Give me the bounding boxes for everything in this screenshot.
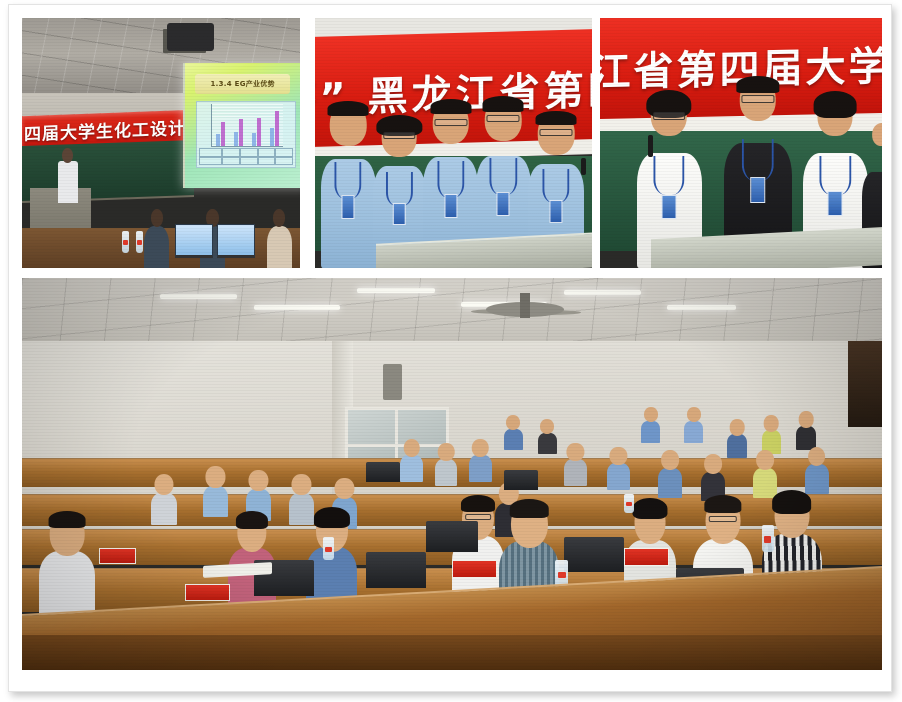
- laptop-icon: [175, 224, 213, 258]
- head: [154, 474, 173, 495]
- lanyard: [653, 156, 684, 195]
- attendee: [762, 415, 782, 454]
- photo-presentation[interactable]: 四届大学生化工设计 1.3.4 EG产业优势: [22, 18, 300, 268]
- water-bottle: [323, 537, 334, 561]
- attendee: [504, 415, 523, 450]
- hair: [704, 495, 741, 513]
- badge: [828, 191, 843, 216]
- torso: [469, 455, 491, 482]
- microphone-icon: [581, 158, 586, 175]
- torso: [641, 421, 660, 443]
- hair: [430, 99, 471, 114]
- attendee: [203, 466, 229, 517]
- torso: [805, 464, 829, 493]
- water-bottle: [122, 231, 129, 254]
- hair: [328, 101, 369, 116]
- attendee: [564, 443, 587, 486]
- door: [848, 341, 882, 427]
- hair: [772, 490, 812, 514]
- head: [206, 466, 225, 487]
- torso: [684, 421, 703, 443]
- water-bottle: [762, 525, 774, 552]
- glasses-icon: [539, 129, 572, 136]
- audience-member: [267, 226, 292, 269]
- lanyard: [386, 172, 412, 206]
- glasses-icon: [487, 115, 520, 122]
- chart-plot-area: [211, 104, 283, 147]
- badge: [750, 177, 766, 204]
- glasses-icon: [653, 112, 685, 120]
- hair: [49, 511, 86, 528]
- laptop-icon: [366, 462, 400, 482]
- chart-data-table: [199, 148, 293, 165]
- attendee: [435, 443, 457, 486]
- torso: [151, 493, 177, 525]
- head: [799, 411, 814, 427]
- attendee: [805, 447, 829, 494]
- laptop-icon: [504, 470, 538, 490]
- ceiling-light: [254, 305, 340, 310]
- hair: [632, 498, 667, 519]
- lanyard: [820, 156, 851, 195]
- hair: [461, 495, 495, 512]
- torso: [607, 463, 630, 490]
- presenter-body: [58, 161, 77, 204]
- water-bottle: [624, 494, 634, 514]
- attendee: [727, 419, 747, 458]
- torso: [400, 455, 422, 482]
- head: [705, 454, 723, 474]
- projector-icon: [167, 23, 214, 51]
- glasses-icon: [434, 119, 467, 126]
- torso: [564, 459, 587, 486]
- student-1: [321, 103, 376, 268]
- head: [662, 450, 680, 470]
- glasses-icon: [384, 132, 415, 139]
- head: [756, 450, 774, 470]
- glasses-icon: [741, 95, 774, 103]
- attendee: [658, 450, 682, 497]
- torso: [504, 429, 523, 451]
- lanyard: [742, 139, 774, 181]
- microphone-icon: [648, 135, 653, 157]
- head: [764, 415, 779, 431]
- bar-group: [234, 104, 243, 146]
- bar-group: [216, 104, 225, 146]
- name-card: [99, 548, 135, 564]
- torso: [203, 486, 229, 518]
- head: [335, 478, 354, 499]
- ceiling-fan-icon: [486, 302, 563, 318]
- badge: [444, 194, 457, 218]
- attendee: [684, 407, 703, 442]
- head: [403, 439, 420, 457]
- torso: [39, 551, 95, 619]
- photo-student-team[interactable]: 隆杯” 黑龙江省第四届: [315, 18, 592, 268]
- laptop-icon: [217, 224, 255, 258]
- hair: [510, 499, 549, 518]
- badge: [549, 200, 562, 222]
- attendee: [538, 419, 557, 454]
- attendee: [753, 450, 777, 497]
- ceiling-light: [160, 294, 237, 299]
- ceiling: [22, 278, 882, 345]
- head: [438, 443, 455, 461]
- head: [687, 407, 701, 422]
- attendee-front: [39, 513, 95, 619]
- bar-group: [270, 104, 279, 146]
- laptop-icon: [426, 521, 478, 552]
- ceiling-light: [357, 288, 434, 293]
- head: [567, 443, 584, 461]
- name-card: [452, 560, 497, 578]
- glasses-icon: [465, 514, 491, 519]
- torso: [435, 459, 457, 486]
- laptop-icon: [366, 552, 426, 587]
- badge: [393, 203, 406, 225]
- head: [644, 407, 658, 422]
- lanyard: [335, 162, 362, 198]
- photo-audience-hall[interactable]: [22, 278, 882, 670]
- attendee: [469, 439, 491, 482]
- head: [730, 419, 745, 435]
- ceiling-light: [564, 290, 641, 295]
- attendee: [607, 447, 630, 490]
- head: [249, 470, 268, 491]
- hair: [314, 507, 350, 528]
- head: [540, 419, 554, 434]
- audience-member: [144, 226, 169, 269]
- lanyard: [437, 161, 464, 198]
- head: [872, 123, 882, 146]
- photo-presenter-qa[interactable]: 龙江省第四届大学生: [600, 18, 882, 268]
- hair: [483, 96, 524, 111]
- hair: [736, 76, 779, 93]
- attendee: [796, 411, 816, 450]
- glasses-icon: [709, 516, 737, 522]
- name-card: [624, 548, 669, 566]
- laptop-icon: [564, 537, 624, 572]
- badge: [662, 195, 677, 220]
- badge: [342, 195, 355, 218]
- head: [808, 447, 826, 467]
- head: [472, 439, 489, 457]
- water-bottle: [136, 231, 143, 254]
- bar-group: [252, 104, 261, 146]
- slide-chart: [196, 101, 296, 168]
- attendee: [151, 474, 177, 525]
- hair: [814, 91, 857, 117]
- torso: [658, 468, 682, 497]
- hair: [236, 511, 268, 529]
- projection-screen: 1.3.4 EG产业优势: [183, 63, 300, 188]
- attendee: [641, 407, 660, 442]
- head: [292, 474, 311, 495]
- name-card: [185, 584, 230, 602]
- lanyard: [542, 169, 569, 204]
- front-desk-base: [22, 635, 882, 670]
- hair: [535, 111, 576, 125]
- head: [610, 447, 627, 465]
- lanyard: [490, 158, 517, 195]
- wall-speaker-icon: [383, 364, 402, 399]
- attendee: [400, 439, 422, 482]
- badge: [497, 192, 510, 216]
- ceiling-light: [667, 305, 736, 310]
- head: [506, 415, 520, 430]
- collage-page: 四届大学生化工设计 1.3.4 EG产业优势: [0, 0, 902, 702]
- torso: [727, 434, 747, 458]
- torso: [538, 433, 557, 455]
- slide-title: 1.3.4 EG产业优势: [195, 74, 290, 94]
